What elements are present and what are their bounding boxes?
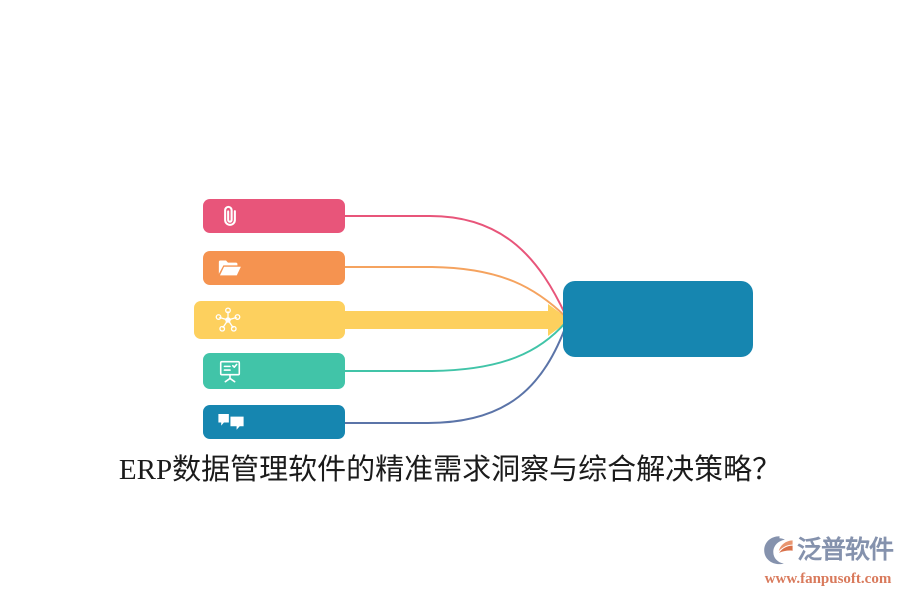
funnel-item-2[interactable] (203, 251, 345, 285)
funnel-item-5[interactable] (203, 405, 345, 439)
connector-curve-2 (343, 267, 566, 317)
page-title: ERP数据管理软件的精准需求洞察与综合解决策略？ (0, 450, 900, 490)
watermark-logo: 泛普软件 www.fanpusoft.com (762, 531, 894, 593)
folder-open-icon (217, 255, 243, 281)
presentation-board-icon (217, 358, 243, 384)
funnel-item-1[interactable] (203, 199, 345, 233)
brand-url: www.fanpusoft.com (762, 570, 894, 588)
emphasis-arrow-yellow (340, 304, 570, 336)
brand-name: 泛普软件 (797, 534, 893, 566)
chat-bubbles-icon (217, 410, 245, 434)
connector-lines (0, 0, 900, 600)
connector-curve-5 (343, 323, 567, 423)
funnel-item-3[interactable] (194, 301, 345, 339)
hub-node[interactable] (563, 281, 753, 357)
paperclip-icon (217, 203, 243, 229)
connector-curve-4 (343, 322, 566, 371)
funnel-item-4[interactable] (203, 353, 345, 389)
network-hub-icon (214, 306, 242, 334)
fanpu-logo-icon (762, 534, 796, 566)
screenshot-canvas: ERP数据管理软件的精准需求洞察与综合解决策略？ 泛普软件 www.fanpus… (0, 0, 900, 600)
